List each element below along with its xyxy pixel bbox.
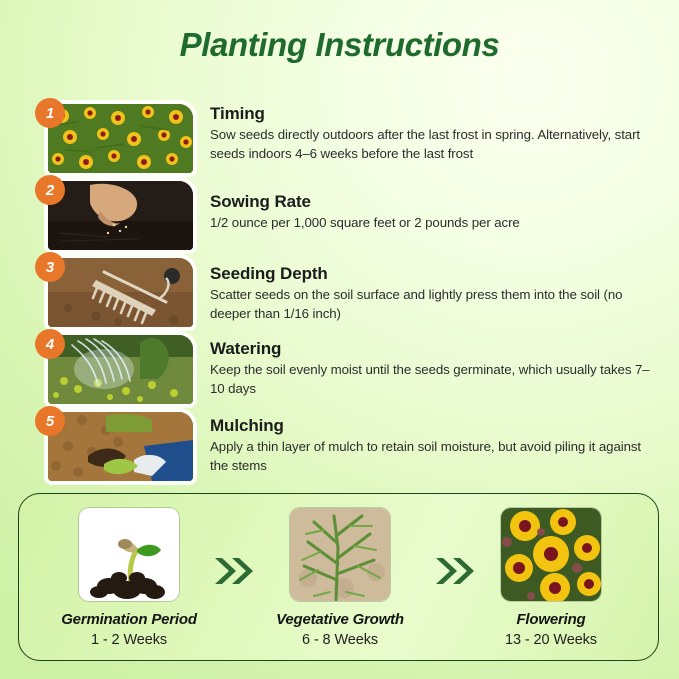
step-thumbnail-wrap: 3	[48, 258, 193, 327]
step-number-badge: 4	[35, 329, 65, 359]
step-description: Sow seeds directly outdoors after the la…	[210, 126, 660, 164]
double-chevron-right-icon	[211, 554, 257, 588]
step-number-badge: 2	[35, 175, 65, 205]
infographic-page: Planting Instructions	[0, 0, 679, 679]
step-description: 1/2 ounce per 1,000 square feet or 2 pou…	[210, 214, 660, 233]
step-description: Keep the soil evenly moist until the see…	[210, 361, 660, 399]
step-number-badge: 5	[35, 406, 65, 436]
stage-duration: 6 - 8 Weeks	[255, 632, 425, 648]
step-title: Timing	[210, 104, 660, 124]
step-thumbnail-wrap: 5	[48, 412, 193, 481]
sprinkler-watering-garden-photo	[48, 335, 193, 404]
growth-timeline-panel: Germination Period 1 - 2 Weeks	[18, 493, 659, 661]
sprouting-seedling-photo	[79, 508, 179, 601]
yellow-coreopsis-blooms-photo	[501, 508, 601, 601]
step-title: Watering	[210, 339, 660, 359]
step-title: Mulching	[210, 416, 660, 436]
step-text: Seeding Depth Scatter seeds on the soil …	[210, 264, 660, 324]
page-title: Planting Instructions	[0, 26, 679, 64]
stage-name: Germination Period	[44, 611, 214, 628]
step-text: Timing Sow seeds directly outdoors after…	[210, 104, 660, 164]
step-description: Apply a thin layer of mulch to retain so…	[210, 438, 660, 476]
step-text: Watering Keep the soil evenly moist unti…	[210, 339, 660, 399]
timeline-stage: Vegetative Growth 6 - 8 Weeks	[255, 508, 425, 648]
gloved-hand-spreading-mulch-photo	[48, 412, 193, 481]
step-text: Sowing Rate 1/2 ounce per 1,000 square f…	[210, 192, 660, 233]
step-title: Sowing Rate	[210, 192, 660, 212]
step-description: Scatter seeds on the soil surface and li…	[210, 286, 660, 324]
step-title: Seeding Depth	[210, 264, 660, 284]
step-number-badge: 3	[35, 252, 65, 282]
timeline-stage: Germination Period 1 - 2 Weeks	[44, 508, 214, 648]
hand-sowing-seeds-in-dark-soil-photo	[48, 181, 193, 250]
step-number-badge: 1	[35, 98, 65, 128]
stage-duration: 13 - 20 Weeks	[466, 632, 636, 648]
coreopsis-flower-field-photo	[48, 104, 193, 173]
green-foliage-stems-photo	[290, 508, 390, 601]
step-thumbnail-wrap: 1	[48, 104, 193, 173]
stage-name: Vegetative Growth	[255, 611, 425, 628]
rake-on-brown-soil-photo	[48, 258, 193, 327]
timeline-stage: Flowering 13 - 20 Weeks	[466, 508, 636, 648]
step-thumbnail-wrap: 4	[48, 335, 193, 404]
step-text: Mulching Apply a thin layer of mulch to …	[210, 416, 660, 476]
step-thumbnail-wrap: 2	[48, 181, 193, 250]
stage-name: Flowering	[466, 611, 636, 628]
stage-duration: 1 - 2 Weeks	[44, 632, 214, 648]
